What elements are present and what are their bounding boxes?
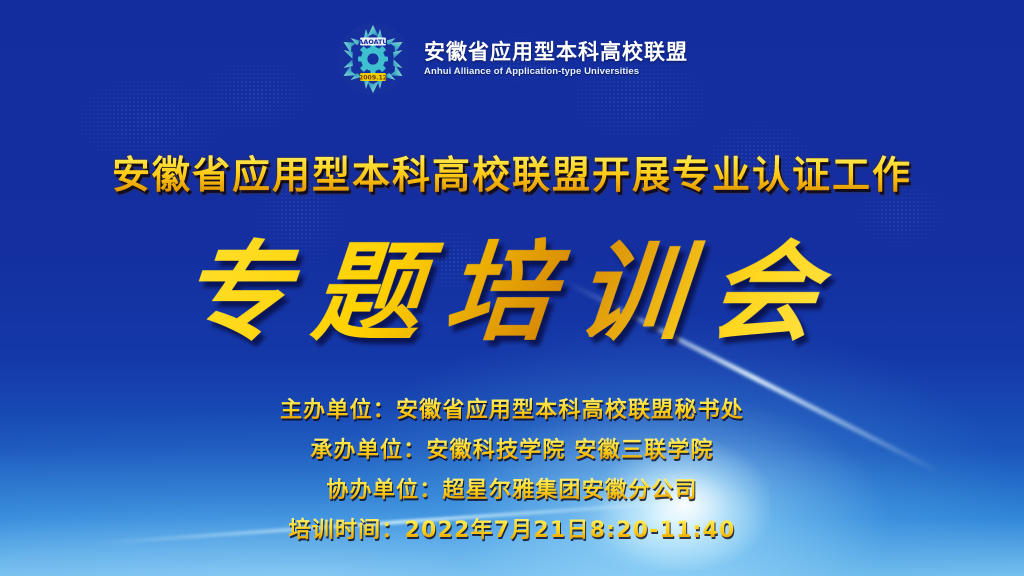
emblem-year-text: 2009.12 (359, 74, 387, 81)
detail-line-organizer: 主办单位：安徽省应用型本科高校联盟秘书处 (280, 392, 744, 424)
organization-name-en: Anhui Alliance of Application-type Unive… (424, 66, 639, 77)
calligraphy-subtitle: 专题培训会 (0, 206, 1024, 362)
snowflake-gear-emblem-icon: AAOATU 2009.12 (336, 22, 410, 96)
organization-logo-row: AAOATU 2009.12 安徽省应用型本科高校联盟 Anhui Allian… (0, 22, 1024, 96)
emblem-acronym-text: AAOATU (358, 38, 387, 46)
detail-line-host: 承办单位：安徽科技学院 安徽三联学院 (310, 432, 713, 464)
organization-name-block: 安徽省应用型本科高校联盟 Anhui Alliance of Applicati… (424, 41, 688, 78)
detail-line-time: 培训时间：2022年7月21日8:20-11:40 (288, 512, 735, 544)
slide-canvas: AAOATU 2009.12 安徽省应用型本科高校联盟 Anhui Allian… (0, 0, 1024, 576)
event-details-block: 主办单位：安徽省应用型本科高校联盟秘书处 承办单位：安徽科技学院 安徽三联学院 … (0, 392, 1024, 544)
detail-line-coorganizer: 协办单位：超星尔雅集团安徽分公司 (326, 472, 697, 504)
page-title: 安徽省应用型本科高校联盟开展专业认证工作 (0, 144, 1024, 199)
organization-name-cn: 安徽省应用型本科高校联盟 (424, 41, 688, 65)
